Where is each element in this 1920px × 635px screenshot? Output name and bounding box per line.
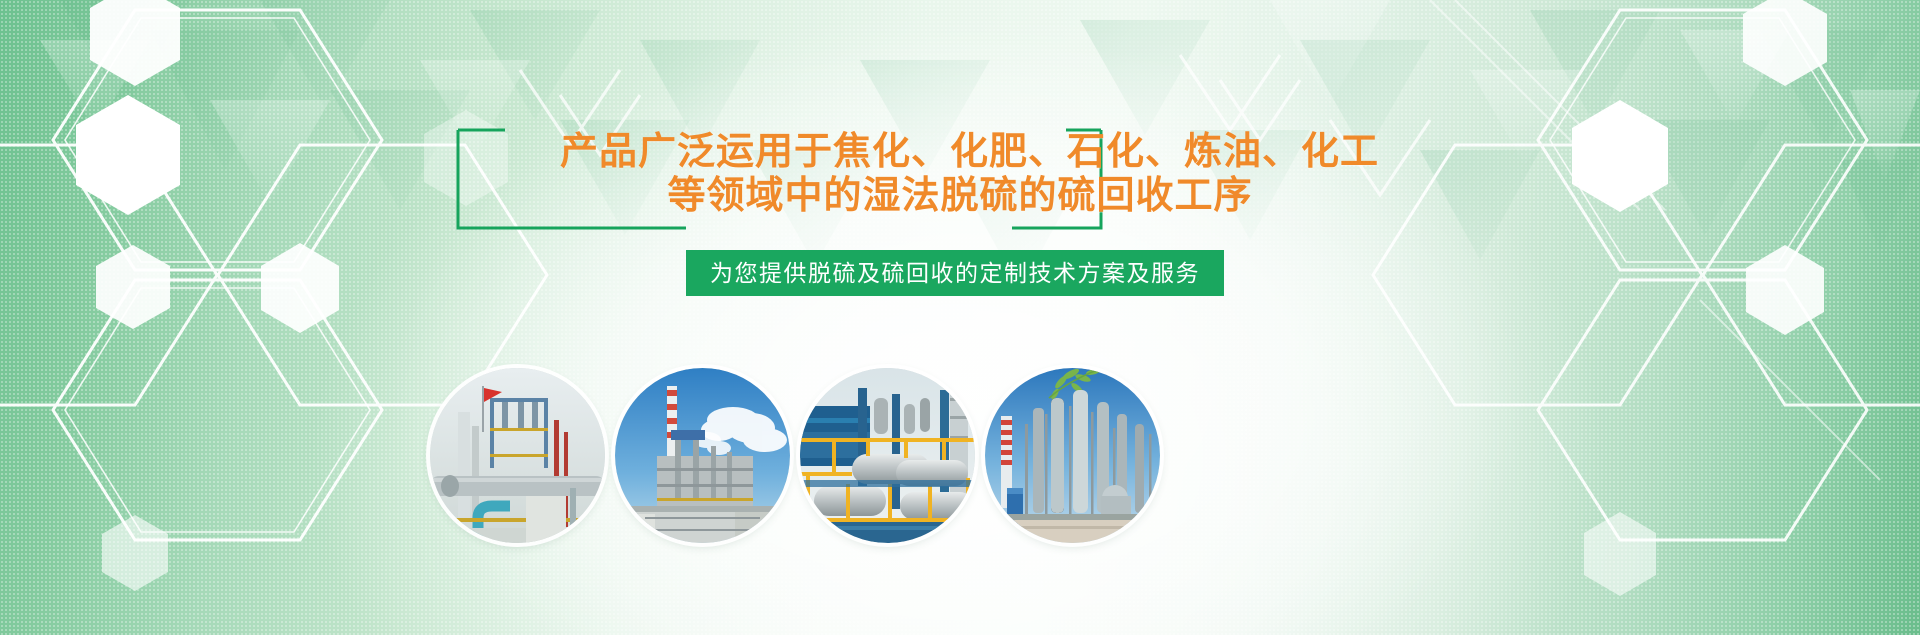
tagline-bar: 为您提供脱硫及硫回收的定制技术方案及服务 <box>686 250 1224 296</box>
photo-sulfur-recovery-stack[interactable] <box>615 368 790 543</box>
banner-content: 产品广泛运用于焦化、化肥、石化、炼油、化工 等领域中的湿法脱硫的硫回收工序 为您… <box>0 0 1920 635</box>
headline-line-2: 等领域中的湿法脱硫的硫回收工序 <box>560 174 1360 218</box>
headline-block: 产品广泛运用于焦化、化肥、石化、炼油、化工 等领域中的湿法脱硫的硫回收工序 <box>560 130 1360 218</box>
photo-refinery-towers[interactable] <box>985 368 1160 543</box>
headline-line-1: 产品广泛运用于焦化、化肥、石化、炼油、化工 <box>560 130 1360 174</box>
hero-banner: 产品广泛运用于焦化、化肥、石化、炼油、化工 等领域中的湿法脱硫的硫回收工序 为您… <box>0 0 1920 635</box>
photo-storage-vessel-platform[interactable] <box>800 368 975 543</box>
photo-row <box>0 368 1920 543</box>
photo-desulfurization-plant-piping[interactable] <box>430 368 605 543</box>
